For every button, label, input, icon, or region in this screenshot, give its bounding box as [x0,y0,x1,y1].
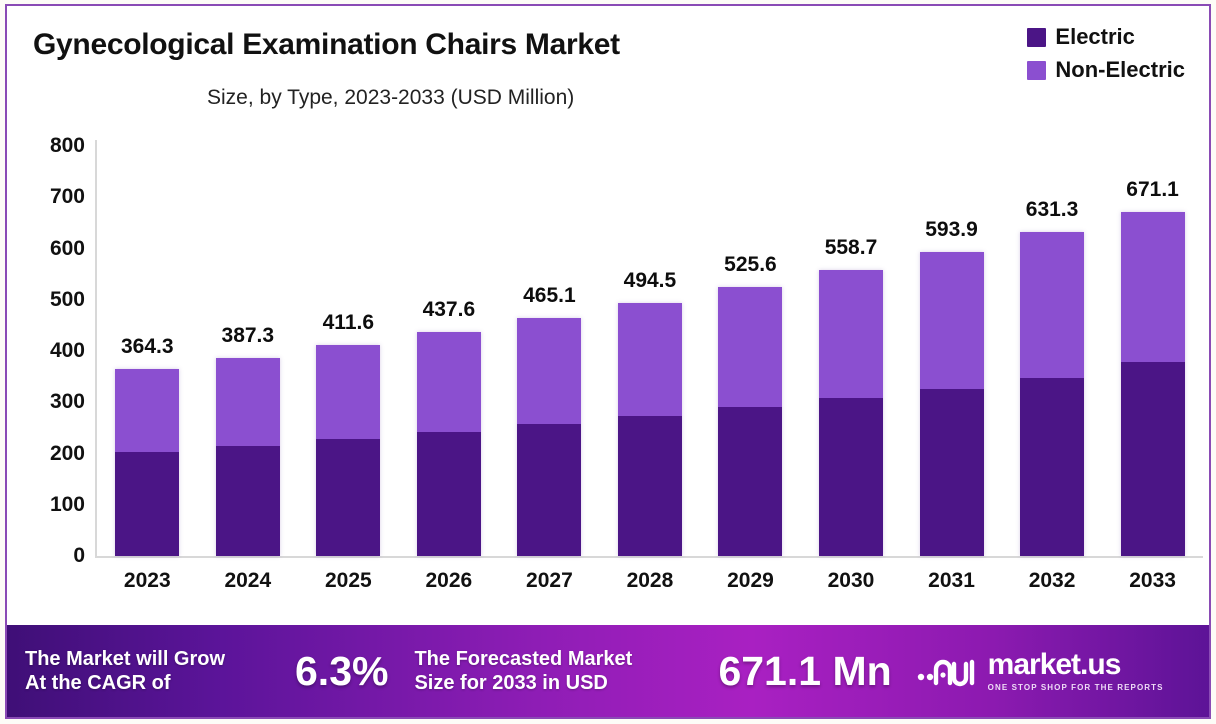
y-axis-tick: 400 [7,339,85,363]
logo-text-block: market.us ONE STOP SHOP FOR THE REPORTS [988,650,1164,692]
bar-stack[interactable] [1121,212,1185,556]
y-axis-tick: 0 [7,544,85,568]
y-axis-tick: 600 [7,237,85,261]
bar-group[interactable]: 437.6 [412,124,486,556]
bar-group[interactable]: 465.1 [512,124,586,556]
bar-segment-electric[interactable] [115,452,179,556]
plot-area: 0100200300400500600700800 364.3387.3411.… [7,124,1211,621]
bar-stack[interactable] [1020,232,1084,556]
bar-group[interactable]: 364.3 [110,124,184,556]
bar-segment-electric[interactable] [618,416,682,556]
x-axis-tick: 2024 [211,569,285,593]
bar-stack[interactable] [115,369,179,556]
bar-total-label: 593.9 [925,218,978,242]
bar-stack[interactable] [517,318,581,556]
legend-item-electric[interactable]: Electric [1027,24,1185,50]
bar-total-label: 558.7 [825,236,878,260]
x-axis-tick: 2028 [613,569,687,593]
bar-segment-electric[interactable] [316,439,380,556]
bar-group[interactable]: 494.5 [613,124,687,556]
banner-forecast-label: The Forecasted Market Size for 2033 in U… [414,647,714,696]
bar-stack[interactable] [819,270,883,556]
bar-segment-non-electric[interactable] [517,318,581,424]
bar-segment-electric[interactable] [1020,378,1084,556]
bar-segment-non-electric[interactable] [718,287,782,408]
legend-swatch-non-electric [1027,61,1046,80]
legend-item-non-electric[interactable]: Non-Electric [1027,57,1185,83]
bar-segment-electric[interactable] [1121,362,1185,556]
bar-group[interactable]: 558.7 [814,124,888,556]
chart-legend: Electric Non-Electric [1027,24,1185,83]
bar-stack[interactable] [618,303,682,556]
bar-segment-non-electric[interactable] [316,345,380,439]
logo-wordmark: market.us [988,650,1121,680]
bar-total-label: 437.6 [423,298,476,322]
bar-segment-non-electric[interactable] [216,358,280,446]
bar-total-label: 465.1 [523,284,576,308]
x-axis-tick: 2033 [1116,569,1190,593]
x-axis: 2023202420252026202720282029203020312032… [97,569,1203,593]
x-axis-tick: 2030 [814,569,888,593]
y-axis-tick: 800 [7,134,85,158]
footer-banner: The Market will Grow At the CAGR of 6.3%… [7,625,1209,717]
bar-segment-electric[interactable] [517,424,581,556]
bar-segment-electric[interactable] [417,432,481,556]
bar-group[interactable]: 593.9 [915,124,989,556]
chart-frame: Gynecological Examination Chairs Market … [5,4,1211,719]
legend-label-non-electric: Non-Electric [1055,57,1185,83]
y-axis-tick: 500 [7,288,85,312]
market-us-logo[interactable]: market.us ONE STOP SHOP FOR THE REPORTS [916,650,1164,692]
bar-segment-electric[interactable] [718,407,782,556]
banner-cagr-label: The Market will Grow At the CAGR of [25,647,293,696]
bar-stack[interactable] [216,358,280,556]
x-axis-tick: 2025 [311,569,385,593]
bar-stack[interactable] [718,287,782,556]
bar-total-label: 631.3 [1026,198,1079,222]
y-axis-tick: 100 [7,493,85,517]
bar-group[interactable]: 387.3 [211,124,285,556]
bar-stack[interactable] [920,252,984,556]
bar-segment-non-electric[interactable] [920,252,984,389]
bar-series-container: 364.3387.3411.6437.6465.1494.5525.6558.7… [97,124,1203,556]
bar-total-label: 387.3 [222,324,275,348]
page-title: Gynecological Examination Chairs Market [33,28,620,62]
banner-forecast-value: 671.1 Mn [718,648,891,695]
bar-segment-non-electric[interactable] [417,332,481,432]
y-axis-tick: 200 [7,442,85,466]
legend-label-electric: Electric [1055,24,1135,50]
bar-stack[interactable] [417,332,481,556]
bar-total-label: 364.3 [121,335,174,359]
bar-group[interactable]: 631.3 [1015,124,1089,556]
y-axis-tick: 700 [7,185,85,209]
x-axis-line [95,556,1203,558]
bar-segment-electric[interactable] [216,446,280,556]
bar-segment-non-electric[interactable] [1121,212,1185,362]
y-axis-tick: 300 [7,390,85,414]
logo-tagline: ONE STOP SHOP FOR THE REPORTS [988,683,1164,692]
x-axis-tick: 2023 [110,569,184,593]
chart-subtitle: Size, by Type, 2023-2033 (USD Million) [207,86,574,110]
x-axis-tick: 2031 [915,569,989,593]
bar-group[interactable]: 411.6 [311,124,385,556]
bar-segment-electric[interactable] [920,389,984,556]
bar-segment-electric[interactable] [819,398,883,556]
bar-group[interactable]: 671.1 [1116,124,1190,556]
legend-swatch-electric [1027,28,1046,47]
bar-total-label: 494.5 [624,269,677,293]
bar-total-label: 411.6 [323,311,374,335]
x-axis-tick: 2026 [412,569,486,593]
bar-segment-non-electric[interactable] [1020,232,1084,378]
y-axis: 0100200300400500600700800 [7,124,85,621]
infographic-page: Gynecological Examination Chairs Market … [0,0,1216,724]
market-us-logo-icon [916,652,978,690]
bar-stack[interactable] [316,345,380,556]
bar-group[interactable]: 525.6 [713,124,787,556]
bar-segment-non-electric[interactable] [819,270,883,399]
x-axis-tick: 2029 [713,569,787,593]
bar-segment-non-electric[interactable] [618,303,682,417]
x-axis-tick: 2032 [1015,569,1089,593]
banner-cagr-value: 6.3% [295,648,388,695]
x-axis-tick: 2027 [512,569,586,593]
bar-segment-non-electric[interactable] [115,369,179,452]
bar-total-label: 525.6 [724,253,777,277]
bar-total-label: 671.1 [1126,178,1179,202]
